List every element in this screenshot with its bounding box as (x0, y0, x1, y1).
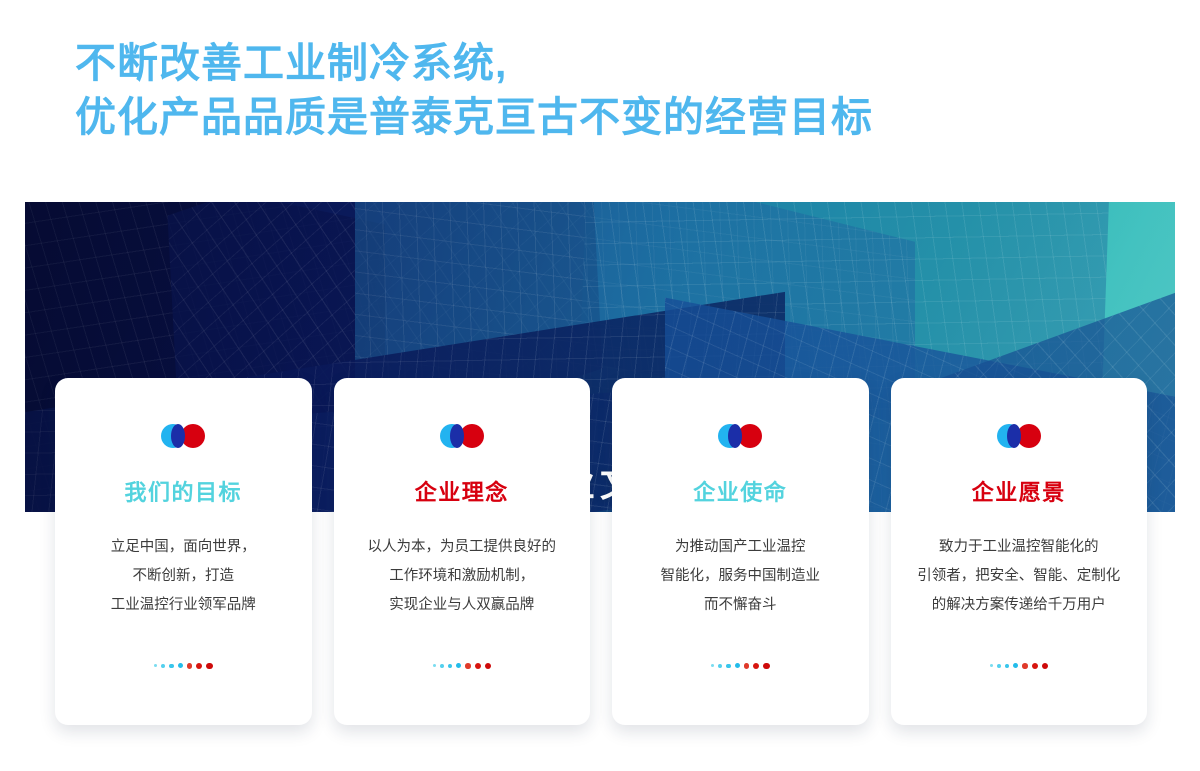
dot (206, 663, 213, 670)
card-title: 企业使命 (693, 475, 787, 507)
page-headline: 不断改善工业制冷系统, 优化产品品质是普泰克亘古不变的经营目标 (75, 36, 1125, 144)
card-body-line: 不断创新，打造 (73, 562, 294, 591)
card-title: 企业理念 (415, 475, 509, 507)
dot (1013, 663, 1018, 668)
logo-circle-overlap (728, 424, 742, 448)
culture-card-mission[interactable]: 企业使命 为推动国产工业温控 智能化，服务中国制造业 而不懈奋斗 (612, 378, 869, 725)
dot (1042, 663, 1049, 670)
dot (711, 664, 714, 667)
headline-line-2: 优化产品品质是普泰克亘古不变的经营目标 (75, 90, 1125, 144)
logo-circle-overlap (171, 424, 185, 448)
dot (465, 663, 471, 669)
card-body-line: 以人为本，为员工提供良好的 (351, 533, 572, 562)
card-body-line: 引领者，把安全、智能、定制化 (908, 562, 1129, 591)
card-dot-decoration (711, 663, 770, 670)
dot (1022, 663, 1028, 669)
culture-card-our-goal[interactable]: 我们的目标 立足中国，面向世界， 不断创新，打造 工业温控行业领军品牌 (55, 378, 312, 725)
card-dot-decoration (990, 663, 1049, 670)
dot (196, 663, 202, 669)
dot (735, 663, 740, 668)
dot (744, 663, 750, 669)
dot (178, 663, 183, 668)
dot (161, 664, 165, 668)
logo-circle-overlap (450, 424, 464, 448)
card-body-line: 智能化，服务中国制造业 (630, 562, 851, 591)
culture-card-vision[interactable]: 企业愿景 致力于工业温控智能化的 引领者，把安全、智能、定制化 的解决方案传递给… (891, 378, 1148, 725)
card-body-line: 实现企业与人双赢品牌 (351, 591, 572, 620)
card-title: 我们的目标 (124, 475, 242, 507)
card-body-line: 而不懈奋斗 (630, 591, 851, 620)
dot (763, 663, 770, 670)
headline-line-1: 不断改善工业制冷系统, (75, 40, 507, 86)
card-body-line: 致力于工业温控智能化的 (908, 533, 1129, 562)
culture-card-philosophy[interactable]: 企业理念 以人为本，为员工提供良好的 工作环境和激励机制， 实现企业与人双赢品牌 (334, 378, 591, 725)
dot (433, 664, 436, 667)
dot (456, 663, 461, 668)
dot (997, 664, 1001, 668)
dot (448, 664, 453, 669)
company-culture-page: 不断改善工业制冷系统, 优化产品品质是普泰克亘古不变的经营目标 企业文化 THE… (0, 0, 1200, 771)
company-logo-icon (997, 424, 1041, 448)
dot (1005, 664, 1010, 669)
dot (187, 663, 193, 669)
dot (1032, 663, 1038, 669)
card-title: 企业愿景 (972, 475, 1066, 507)
company-logo-icon (718, 424, 762, 448)
culture-card-list: 我们的目标 立足中国，面向世界， 不断创新，打造 工业温控行业领军品牌 (55, 378, 1147, 725)
dot (475, 663, 481, 669)
card-body-line: 工业温控行业领军品牌 (73, 591, 294, 620)
card-body: 以人为本，为员工提供良好的 工作环境和激励机制， 实现企业与人双赢品牌 (351, 533, 572, 620)
dot (154, 664, 157, 667)
dot (718, 664, 722, 668)
card-body-line: 工作环境和激励机制， (351, 562, 572, 591)
card-body: 为推动国产工业温控 智能化，服务中国制造业 而不懈奋斗 (630, 533, 851, 620)
dot (440, 664, 444, 668)
dot (485, 663, 492, 670)
card-body: 立足中国，面向世界， 不断创新，打造 工业温控行业领军品牌 (73, 533, 294, 620)
dot (753, 663, 759, 669)
logo-circle-overlap (1007, 424, 1021, 448)
company-logo-icon (161, 424, 205, 448)
card-body-line: 为推动国产工业温控 (630, 533, 851, 562)
card-body-line: 立足中国，面向世界， (73, 533, 294, 562)
company-logo-icon (440, 424, 484, 448)
card-body: 致力于工业温控智能化的 引领者，把安全、智能、定制化 的解决方案传递给千万用户 (908, 533, 1129, 620)
card-dot-decoration (433, 663, 492, 670)
dot (726, 664, 731, 669)
card-body-line: 的解决方案传递给千万用户 (908, 591, 1129, 620)
dot (990, 664, 993, 667)
card-dot-decoration (154, 663, 213, 670)
dot (169, 664, 174, 669)
